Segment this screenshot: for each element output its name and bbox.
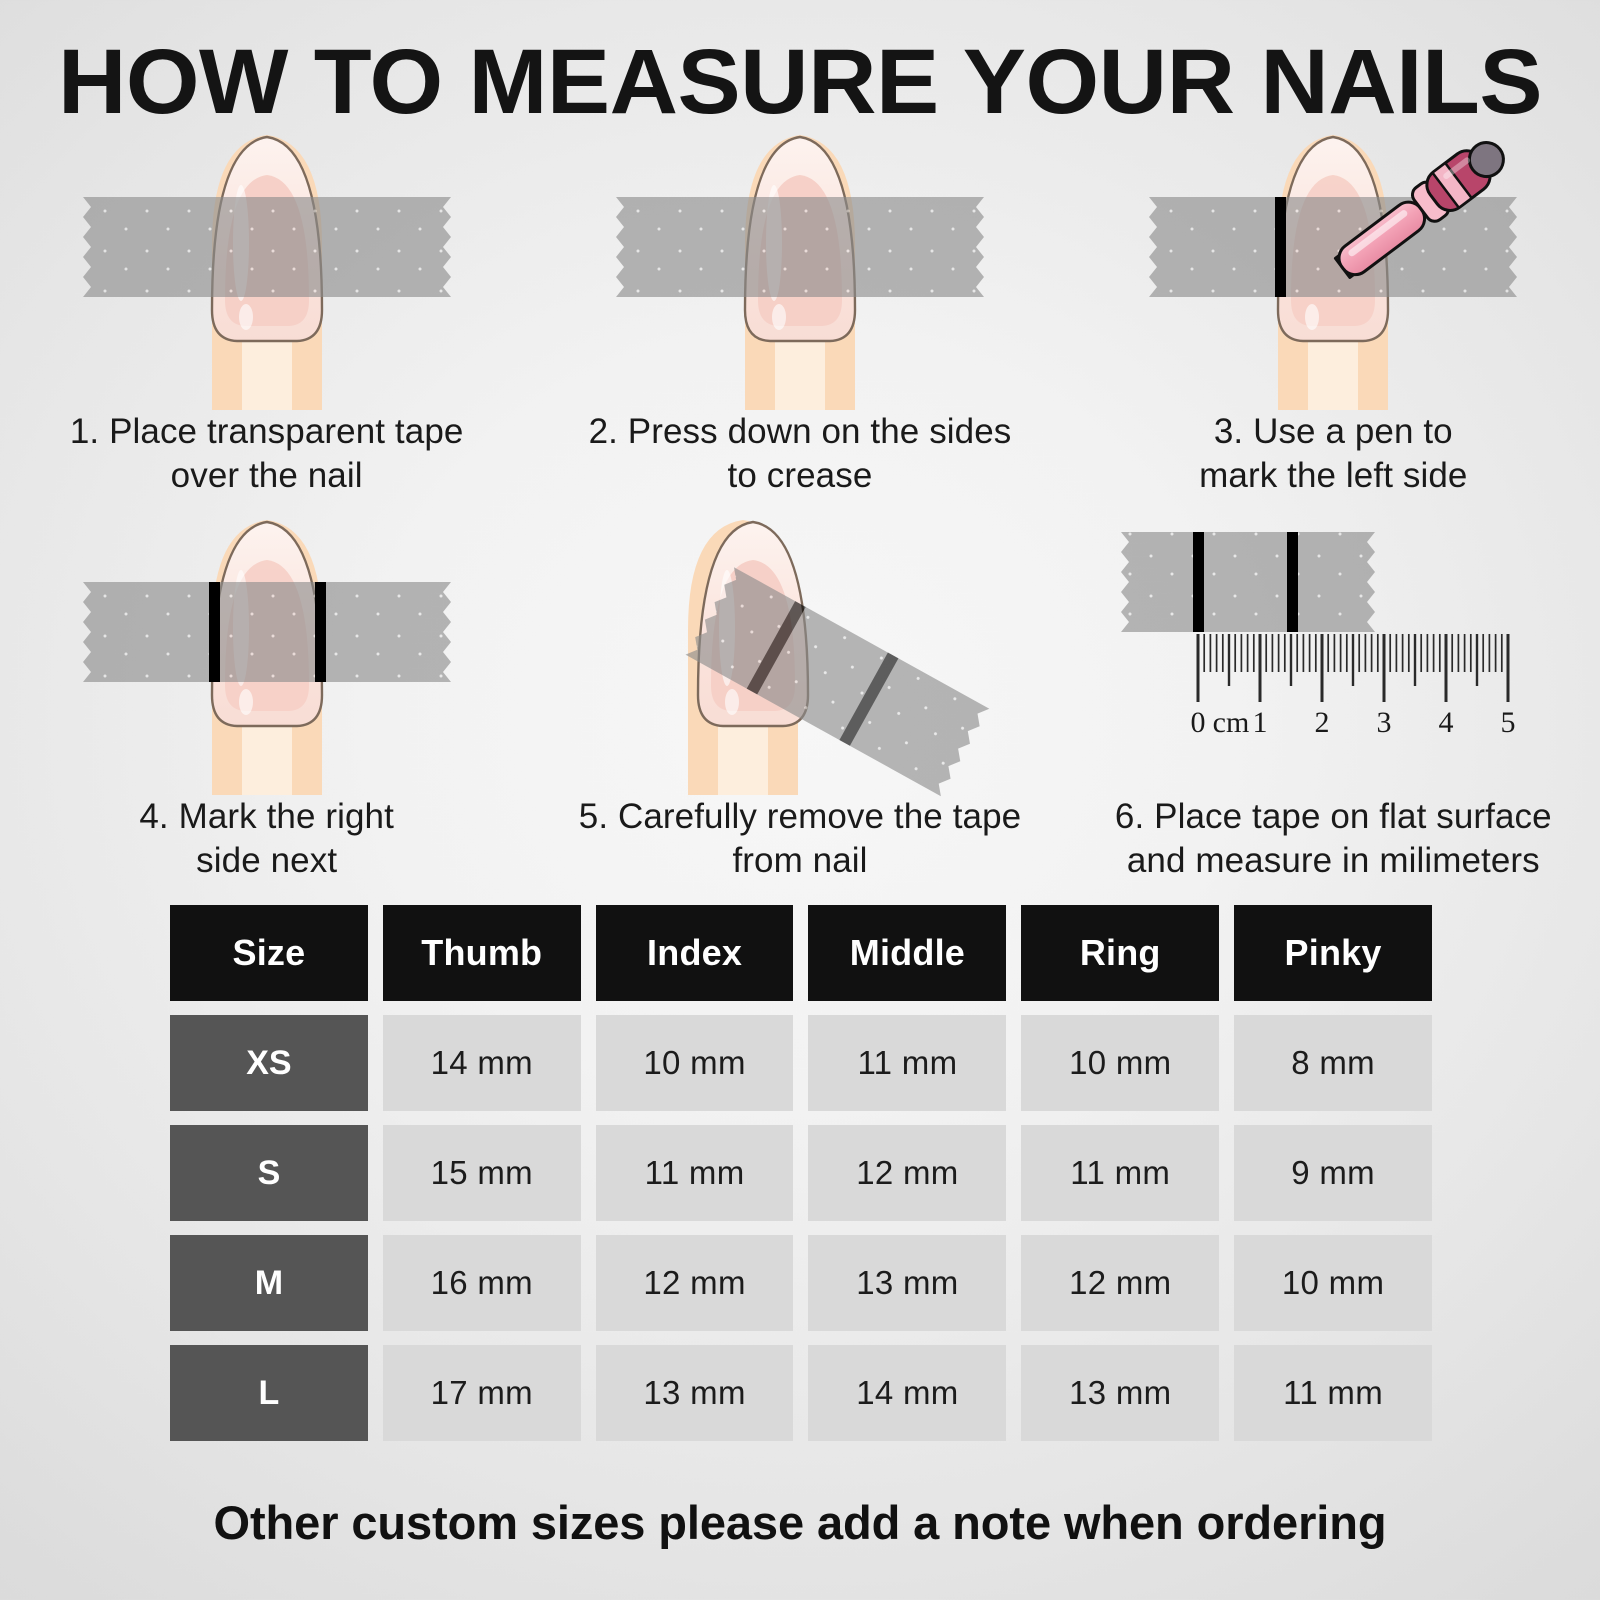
table-row: L bbox=[170, 1345, 368, 1441]
table-cell: 10 mm bbox=[1234, 1235, 1432, 1331]
table-cell: 8 mm bbox=[1234, 1015, 1432, 1111]
table-cell: 10 mm bbox=[596, 1015, 794, 1111]
ruler-ticks bbox=[1198, 634, 1508, 702]
tape-strip bbox=[83, 582, 451, 682]
left-mark bbox=[1193, 532, 1204, 632]
ruler-tick-1: 1 bbox=[1253, 706, 1268, 739]
step-1: 1. Place transparent tape over the nail bbox=[0, 125, 533, 510]
step-4-illustration bbox=[0, 510, 533, 795]
finger-tape-two-marks-svg bbox=[57, 510, 477, 795]
finger-with-creased-tape-svg bbox=[590, 125, 1010, 410]
table-cell: 12 mm bbox=[596, 1235, 794, 1331]
finger-with-tape-svg bbox=[57, 125, 477, 410]
table-cell: 13 mm bbox=[596, 1345, 794, 1441]
page-title: HOW TO MEASURE YOUR NAILS bbox=[0, 30, 1600, 135]
table-cell: 9 mm bbox=[1234, 1125, 1432, 1221]
step-2: 2. Press down on the sides to crease bbox=[533, 125, 1066, 510]
table-cell: 12 mm bbox=[1021, 1235, 1219, 1331]
table-cell: 11 mm bbox=[1021, 1125, 1219, 1221]
step-1-illustration bbox=[0, 125, 533, 410]
step-4: 4. Mark the right side next bbox=[0, 510, 533, 895]
table-cell: 13 mm bbox=[1021, 1345, 1219, 1441]
table-cell: 11 mm bbox=[1234, 1345, 1432, 1441]
step-6-illustration: 0 cm 1 2 3 4 5 bbox=[1067, 510, 1600, 795]
ruler-tick-3: 3 bbox=[1377, 706, 1392, 739]
ruler-tick-4: 4 bbox=[1439, 706, 1454, 739]
step-3-caption: 3. Use a pen to mark the left side bbox=[1185, 410, 1481, 499]
tape-on-ruler-svg: 0 cm 1 2 3 4 5 bbox=[1103, 510, 1563, 795]
table-cell: 11 mm bbox=[808, 1015, 1006, 1111]
step-2-illustration bbox=[533, 125, 1066, 410]
right-mark bbox=[1287, 532, 1298, 632]
custom-size-note: Other custom sizes please add a note whe… bbox=[0, 1495, 1600, 1550]
left-mark bbox=[1275, 197, 1286, 297]
table-row: M bbox=[170, 1235, 368, 1331]
step-1-caption: 1. Place transparent tape over the nail bbox=[56, 410, 478, 499]
table-header-size: Size bbox=[170, 905, 368, 1001]
step-3-illustration bbox=[1067, 125, 1600, 410]
table-cell: 14 mm bbox=[383, 1015, 581, 1111]
ruler-tick-2: 2 bbox=[1315, 706, 1330, 739]
step-2-caption: 2. Press down on the sides to crease bbox=[575, 410, 1026, 499]
ruler-unit-label: cm bbox=[1213, 706, 1250, 739]
table-header-ring: Ring bbox=[1021, 905, 1219, 1001]
ruler-tick-5: 5 bbox=[1501, 706, 1516, 739]
table-cell: 17 mm bbox=[383, 1345, 581, 1441]
ruler-tick-0: 0 bbox=[1191, 706, 1206, 739]
table-cell: 14 mm bbox=[808, 1345, 1006, 1441]
table-cell: 10 mm bbox=[1021, 1015, 1219, 1111]
table-header-middle: Middle bbox=[808, 905, 1006, 1001]
step-5-illustration bbox=[533, 510, 1066, 795]
table-cell: 16 mm bbox=[383, 1235, 581, 1331]
tape-strip bbox=[83, 197, 451, 297]
step-6-caption: 6. Place tape on flat surface and measur… bbox=[1101, 795, 1566, 884]
step-4-caption: 4. Mark the right side next bbox=[125, 795, 408, 884]
steps-grid: 1. Place transparent tape over the nail bbox=[0, 125, 1600, 895]
table-row: S bbox=[170, 1125, 368, 1221]
step-3: 3. Use a pen to mark the left side bbox=[1067, 125, 1600, 510]
table-cell: 11 mm bbox=[596, 1125, 794, 1221]
left-mark bbox=[209, 582, 220, 682]
tape-strip bbox=[616, 197, 984, 297]
table-cell: 12 mm bbox=[808, 1125, 1006, 1221]
table-header-thumb: Thumb bbox=[383, 905, 581, 1001]
right-mark bbox=[315, 582, 326, 682]
step-5: 5. Carefully remove the tape from nail bbox=[533, 510, 1066, 895]
step-5-caption: 5. Carefully remove the tape from nail bbox=[565, 795, 1035, 884]
finger-tape-pen-left-mark-svg bbox=[1123, 125, 1543, 410]
step-6: 0 cm 1 2 3 4 5 6. Place tape on flat sur… bbox=[1067, 510, 1600, 895]
size-chart-table: Size Thumb Index Middle Ring Pinky XS 14… bbox=[170, 905, 1432, 1441]
tape-strip bbox=[1149, 197, 1517, 297]
finger-tape-peeled-off-svg bbox=[590, 510, 1010, 795]
table-cell: 13 mm bbox=[808, 1235, 1006, 1331]
table-cell: 15 mm bbox=[383, 1125, 581, 1221]
table-row: XS bbox=[170, 1015, 368, 1111]
table-header-index: Index bbox=[596, 905, 794, 1001]
tape-strip bbox=[1121, 532, 1375, 632]
table-header-pinky: Pinky bbox=[1234, 905, 1432, 1001]
